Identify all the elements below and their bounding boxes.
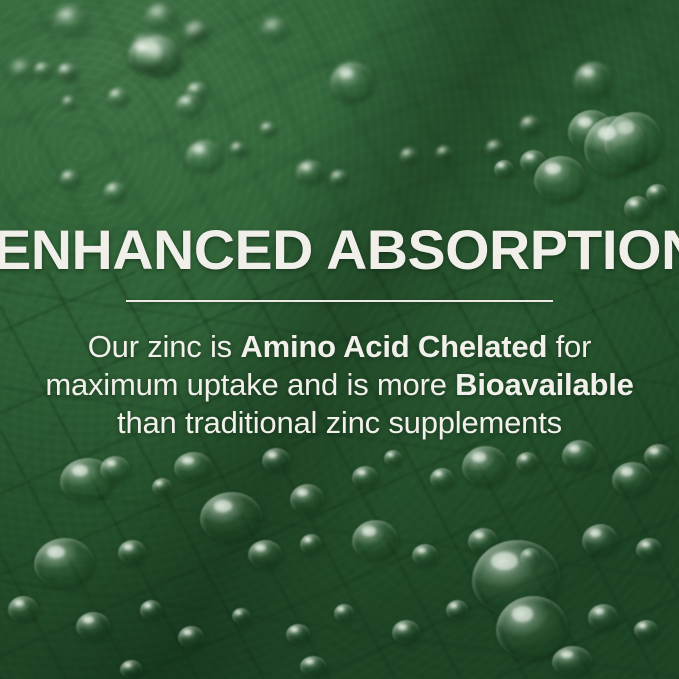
- banner-content: ENHANCED ABSORPTION Our zinc is Amino Ac…: [0, 0, 679, 679]
- promo-banner: ENHANCED ABSORPTION Our zinc is Amino Ac…: [0, 0, 679, 679]
- body-line-2-emphasis: Bioavailable: [455, 367, 634, 402]
- page-title: ENHANCED ABSORPTION: [0, 222, 679, 278]
- body-line-1-post: for: [547, 329, 591, 364]
- body-line-3-pre: than traditional zinc supplements: [117, 405, 562, 440]
- title-divider: [126, 300, 553, 302]
- body-line-3: than traditional zinc supplements: [0, 404, 679, 442]
- body-line-1-pre: Our zinc is: [88, 329, 241, 364]
- body-line-1: Our zinc is Amino Acid Chelated for: [0, 328, 679, 366]
- body-line-2-pre: maximum uptake and is more: [45, 367, 455, 402]
- banner-body-copy: Our zinc is Amino Acid Chelated for maxi…: [0, 328, 679, 442]
- body-line-1-emphasis: Amino Acid Chelated: [240, 329, 547, 364]
- body-line-2: maximum uptake and is more Bioavailable: [0, 366, 679, 404]
